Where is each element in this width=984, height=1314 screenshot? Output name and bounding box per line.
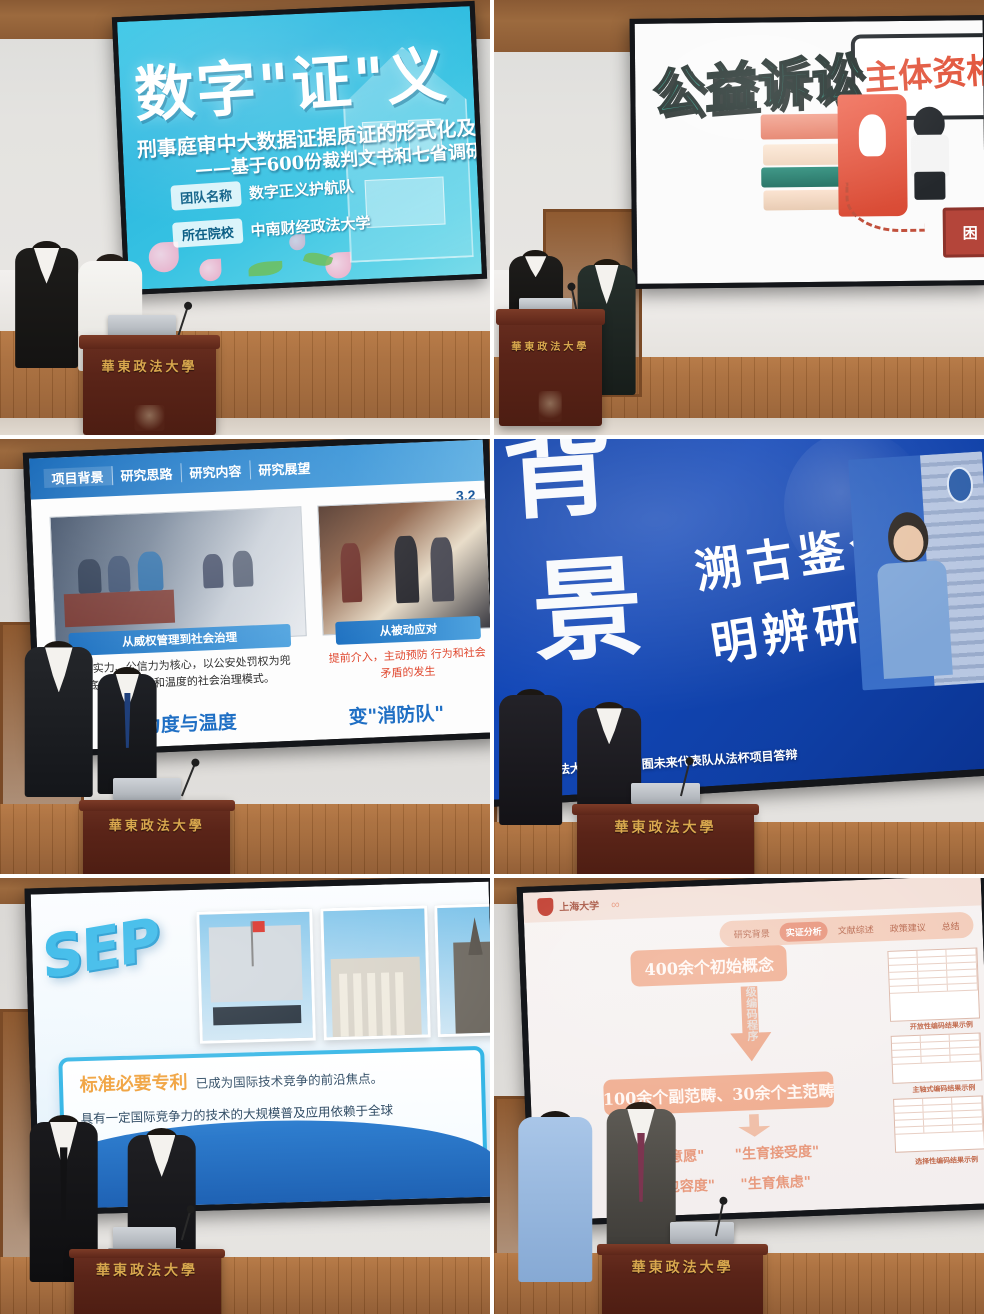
necktie — [60, 1147, 68, 1221]
photo-church — [435, 903, 490, 1037]
side-table-caption-2: 主轴式编码结果示例 — [913, 1082, 976, 1094]
slide-big-char-1: 背 — [500, 439, 617, 527]
presenter-torso — [98, 674, 157, 794]
video-inset — [849, 452, 984, 690]
card-caption-2: 从被动应对 — [336, 616, 482, 645]
projection-screen: 公益诉讼 主体资格 困 — [630, 16, 984, 289]
photo-courthouse — [320, 906, 430, 1041]
projection-screen: 项目背景 研究思路 研究内容 研究展望 3.2 — [23, 439, 490, 757]
podium-engraving: 華東政法大學 — [91, 353, 207, 379]
podium: 華東政法大學 — [83, 800, 230, 874]
tab-research-approach[interactable]: 研究思路 — [112, 464, 182, 486]
slide-field-school: 所在院校 中南财经政法大学 — [171, 210, 370, 248]
presenter-right — [98, 670, 157, 794]
tab-empirical-analysis[interactable]: 实证分析 — [780, 921, 829, 942]
slide-nav-tabs[interactable]: 项目背景 研究思路 研究内容 研究展望 — [29, 440, 484, 500]
side-table-2 — [891, 1033, 982, 1084]
card-footer-2: 变"消防队" — [348, 699, 445, 730]
podium-crest-icon — [539, 391, 562, 422]
tab-research-content[interactable]: 研究内容 — [181, 461, 251, 483]
flow-step-1: 400余个初始概念 — [631, 945, 788, 987]
field-label: 所在院校 — [171, 218, 243, 248]
university-name: 上海大学 — [559, 897, 600, 914]
panel-bottom-left: SEP — [0, 878, 490, 1314]
tab-research-outlook[interactable]: 研究展望 — [250, 458, 319, 480]
necktie — [124, 693, 130, 748]
side-table-caption-3: 选择性编码结果示例 — [915, 1155, 978, 1167]
slide-digital-evidence: 数字"证"义 刑事庭审中大数据证据质证的形式化及其实质化路径研究 ——基于600… — [117, 6, 481, 290]
laptop — [113, 778, 182, 800]
projection-screen: 数字"证"义 刑事庭审中大数据证据质证的形式化及其实质化路径研究 ——基于600… — [111, 1, 486, 296]
presenter-left — [519, 1113, 593, 1282]
tab-research-background[interactable]: 研究背景 — [728, 923, 777, 944]
panel-top-left: 数字"证"义 刑事庭审中大数据证据质证的形式化及其实质化路径研究 ——基于600… — [0, 0, 490, 435]
slide-sep-patent: SEP — [31, 882, 490, 1210]
sep-logo: SEP — [42, 905, 160, 993]
tab-policy-advice[interactable]: 政策建议 — [884, 917, 933, 938]
hand-icon — [858, 115, 886, 157]
panel-mid-left: 项目背景 研究思路 研究内容 研究展望 3.2 — [0, 439, 490, 874]
down-arrow-small-icon — [738, 1113, 771, 1137]
presenter-right — [607, 1105, 676, 1259]
slide-fertility-coding: 上海大学 ∞ 研究背景 实证分析 文献综述 政策建议 总结 400余个初始概念 … — [523, 878, 984, 1221]
photo-ip-court — [197, 909, 317, 1044]
tab-project-background[interactable]: 项目背景 — [44, 466, 114, 488]
podium-engraving: 華東政法大學 — [611, 1258, 753, 1277]
card-photo-2 — [317, 498, 490, 636]
presenter-left — [25, 643, 94, 797]
presenter-left — [15, 244, 79, 368]
podium: 華東政法大學 — [74, 1249, 221, 1314]
side-table-caption-1: 开放性编码结果示例 — [910, 1020, 973, 1032]
card-body-1: 以软实力、公信力为核心，以公安处罚权为兜底，兼具力度和温度的社会治理模式。 — [61, 653, 303, 697]
podium-engraving: 華東政法大學 — [92, 814, 221, 834]
tab-literature-review[interactable]: 文献综述 — [832, 919, 881, 940]
body-line-1: 已成为国际技术竞争的前沿焦点。 — [196, 1069, 384, 1094]
podium-crest-icon — [135, 405, 164, 431]
dashed-path-icon — [845, 182, 925, 233]
card-body-2: 提前介入，主动预防 行为和社会矛盾的发生 — [323, 645, 490, 686]
presenter-torso — [499, 695, 563, 825]
field-label: 团队名称 — [170, 181, 242, 211]
arrow-label: 级编码程序 — [742, 986, 760, 1042]
slide-big-char-2: 景 — [530, 553, 647, 670]
podium-engraving: 華東政法大學 — [505, 330, 596, 361]
panel-mid-right: 背 景 溯古鉴今 明辨研究基点 财经政法大学法学院智囿未来代表队从法杯项目答辩 — [494, 439, 984, 874]
keyword-sep: 标准必要专利 — [80, 1068, 189, 1097]
photo-collage: 数字"证"义 刑事庭审中大数据证据质证的形式化及其实质化路径研究 ——基于600… — [0, 0, 984, 1312]
slide-background-calligraphy: 背 景 溯古鉴今 明辨研究基点 财经政法大学法学院智囿未来代表队从法杯项目答辩 — [494, 439, 984, 800]
podium: 華東政法大學 — [577, 804, 753, 874]
podium: 華東政法大學 — [499, 309, 602, 426]
field-value: 数字正义护航队 — [248, 175, 354, 203]
laptop — [108, 315, 177, 337]
panel-top-right: 公益诉讼 主体资格 困 — [494, 0, 984, 435]
podium-engraving: 華東政法大學 — [588, 818, 743, 837]
tab-summary[interactable]: 总结 — [936, 916, 967, 936]
slide-caption: 财经政法大学法学院智囿未来代表队从法杯项目答辩 — [522, 746, 799, 780]
keyword-4: "生育焦虑" — [740, 1171, 811, 1194]
keyword-2: "生育接受度" — [735, 1141, 820, 1164]
necktie — [637, 1133, 645, 1202]
side-table-3 — [894, 1095, 984, 1153]
laptop — [113, 1227, 177, 1249]
slide-nav-tabs[interactable]: 研究背景 实证分析 文献综述 政策建议 总结 — [720, 912, 975, 948]
podium: 華東政法大學 — [602, 1244, 764, 1314]
dna-icon: ∞ — [611, 897, 620, 911]
panel-bottom-right: 上海大学 ∞ 研究背景 实证分析 文献综述 政策建议 总结 400余个初始概念 … — [494, 878, 984, 1314]
slide-title-secondary: 主体资格 — [863, 43, 984, 100]
presenter-torso — [25, 647, 94, 797]
projection-screen: 背 景 溯古鉴今 明辨研究基点 财经政法大学法学院智囿未来代表队从法杯项目答辩 — [494, 439, 984, 808]
laptop — [670, 1222, 734, 1244]
presenter-torso — [519, 1117, 593, 1282]
laptop — [631, 783, 700, 805]
slide-public-interest-litigation: 公益诉讼 主体资格 困 — [635, 21, 984, 284]
crate-icon: 困 — [943, 207, 984, 258]
presenter-left — [499, 691, 563, 825]
podium: 華東政法大學 — [83, 335, 215, 435]
university-logo-icon — [537, 898, 554, 917]
side-table-1 — [888, 948, 980, 1022]
presenter-torso — [607, 1109, 676, 1259]
presenter-torso — [15, 248, 79, 368]
podium-engraving: 華東政法大學 — [82, 1261, 211, 1279]
